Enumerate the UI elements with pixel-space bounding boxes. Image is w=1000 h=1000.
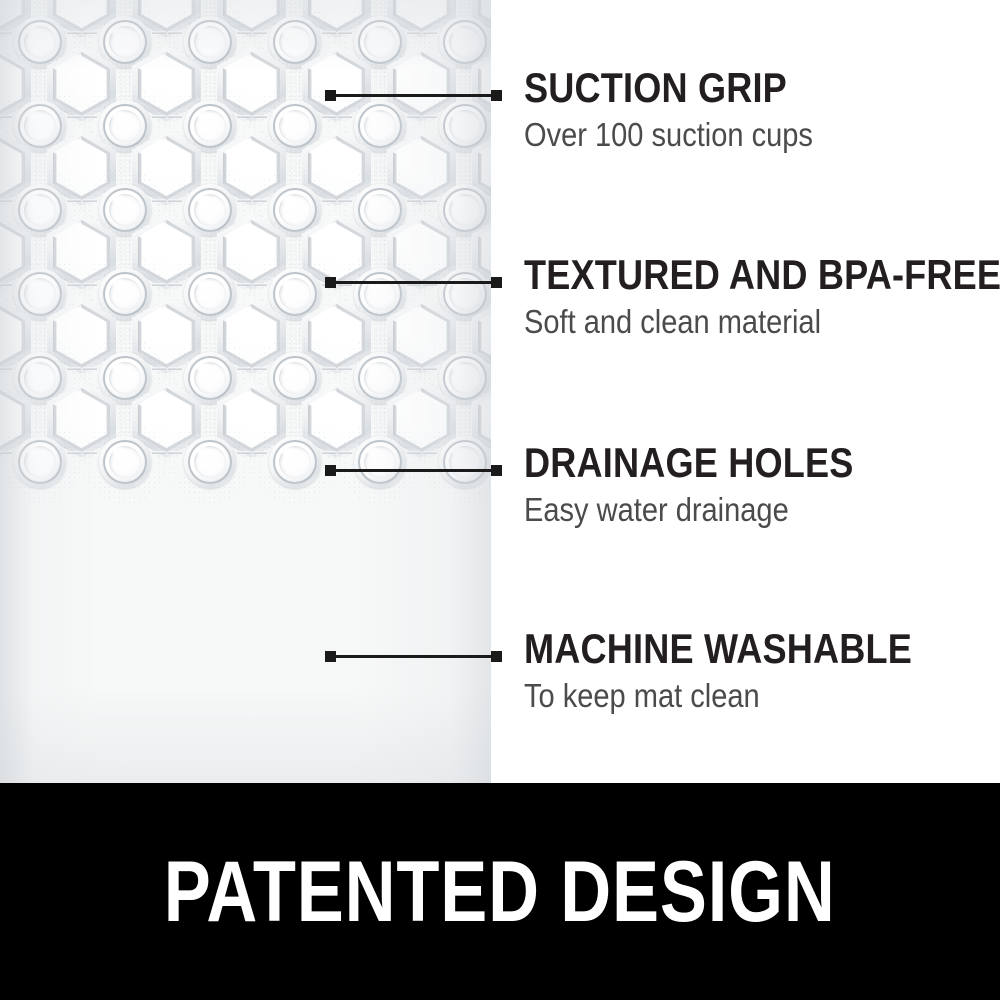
- product-photo: [0, 0, 491, 783]
- mat-texture-grid: [0, 0, 491, 783]
- feature-callout-1: SUCTION GRIPOver 100 suction cups: [524, 66, 984, 154]
- suction-cup-circle: [252, 420, 337, 504]
- feature-callout-3: DRAINAGE HOLESEasy water drainage: [524, 441, 984, 529]
- suction-cup-circle: [167, 420, 252, 504]
- feature-callout-4: MACHINE WASHABLETo keep mat clean: [524, 627, 984, 715]
- feature-callout-2: TEXTURED AND BPA-FREESoft and clean mate…: [524, 253, 984, 341]
- banner-title: PATENTED DESIGN: [164, 848, 836, 936]
- feature-subtitle: Over 100 suction cups: [524, 116, 929, 154]
- feature-subtitle: Easy water drainage: [524, 491, 929, 529]
- suction-cup-circle: [0, 420, 82, 504]
- feature-title: TEXTURED AND BPA-FREE: [524, 253, 920, 297]
- product-feature-infographic: SUCTION GRIPOver 100 suction cupsTEXTURE…: [0, 0, 1000, 1000]
- feature-subtitle: Soft and clean material: [524, 303, 929, 341]
- suction-cup-circle: [337, 420, 422, 504]
- leader-line-4: [327, 655, 500, 658]
- feature-title: MACHINE WASHABLE: [524, 627, 920, 671]
- suction-cup-circle: [82, 420, 167, 504]
- leader-line-2: [327, 281, 500, 284]
- leader-line-1: [327, 94, 500, 97]
- feature-subtitle: To keep mat clean: [524, 677, 929, 715]
- feature-title: SUCTION GRIP: [524, 66, 920, 110]
- feature-title: DRAINAGE HOLES: [524, 441, 920, 485]
- patented-design-banner: PATENTED DESIGN: [0, 783, 1000, 1000]
- suction-cup-circle: [422, 420, 492, 504]
- leader-line-3: [327, 469, 500, 472]
